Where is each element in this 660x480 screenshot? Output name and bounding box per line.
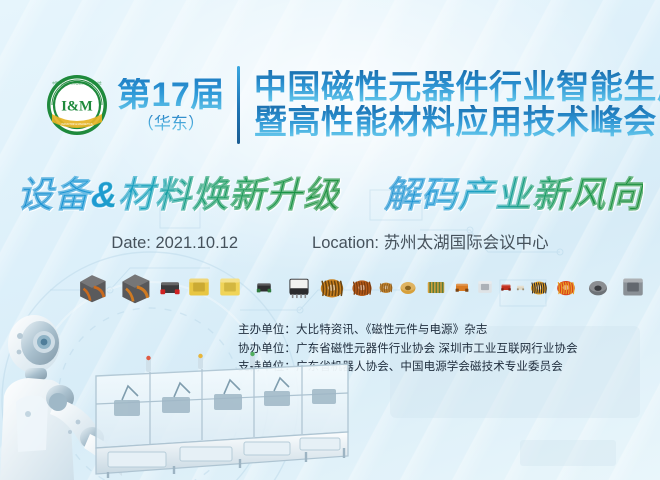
poster-header: I&M 中国电子元件行业协会磁性材料与器件分会 INDUCTOR & MAGNE… <box>0 62 660 148</box>
title-line-1: 中国磁性元器件行业智能生产 <box>254 70 660 105</box>
product-ferrite-core-ee <box>186 274 212 300</box>
svg-text:I&M: I&M <box>61 99 93 115</box>
svg-text:中国电子元件行业协会磁性材料与器件分会: 中国电子元件行业协会磁性材料与器件分会 <box>52 81 102 85</box>
location-label: Location: <box>312 234 379 252</box>
event-date: Date: 2021.10.12 <box>111 234 238 253</box>
edition-number: 第17届 <box>117 78 225 112</box>
date-value: 2021.10.12 <box>155 234 238 252</box>
product-ferrite-core-square <box>216 274 244 300</box>
product-small-chip-red <box>500 280 512 294</box>
slogan-part-1: 设备&材料焕新升级 <box>17 174 340 215</box>
edition-block: 第17届 （华东） <box>117 78 225 132</box>
product-ferrite-block-amber <box>398 276 418 298</box>
location-value: 苏州太湖国际会议中心 <box>384 234 549 252</box>
product-toroid-core-small <box>350 275 374 299</box>
product-planar-core-grey <box>617 274 649 300</box>
page-title: 中国磁性元器件行业智能生产 暨高性能材料应用技术峰会 <box>254 70 660 140</box>
product-transformer-bobbin <box>284 274 314 300</box>
automated-production-line-illustration <box>62 348 362 478</box>
product-planar-transformer <box>474 278 496 296</box>
date-label: Date: <box>111 234 150 252</box>
organizer-line: 主办单位：大比特资讯、《磁性元件与电源》杂志 <box>238 321 638 340</box>
product-toroid-core-wound <box>318 273 346 301</box>
slogan-part-2: 解码产业新风向 <box>384 174 643 215</box>
conference-poster: I&M 中国电子元件行业协会磁性材料与器件分会 INDUCTOR & MAGNE… <box>0 0 660 480</box>
product-common-mode-choke-large <box>72 270 112 304</box>
title-line-2: 暨高性能材料应用技术峰会 <box>254 105 660 140</box>
slogan: 设备&材料焕新升级 解码产业新风向 <box>0 166 660 218</box>
edition-region: （华东） <box>117 115 225 132</box>
product-ring-core-mini <box>378 279 394 295</box>
product-tiny-bead <box>516 283 525 292</box>
product-image-strip <box>72 262 642 312</box>
product-smd-inductor-black <box>158 275 182 299</box>
event-location: Location: 苏州太湖国际会议中心 <box>312 229 549 253</box>
product-common-mode-choke-2 <box>116 269 154 305</box>
event-meta: Date: 2021.10.12 Location: 苏州太湖国际会议中心 <box>0 229 660 253</box>
header-divider <box>237 66 240 144</box>
product-smd-chip-orange <box>454 279 470 295</box>
product-toroid-yellow-wound <box>529 276 549 298</box>
product-shielded-inductor-grey <box>583 275 613 299</box>
im-seal-logo: I&M 中国电子元件行业协会磁性材料与器件分会 INDUCTOR & MAGNE… <box>46 74 108 136</box>
product-multilayer-inductor <box>422 276 450 298</box>
svg-text:INDUCTOR & MAGNETICS: INDUCTOR & MAGNETICS <box>61 123 92 126</box>
product-smd-power-inductor <box>248 278 280 296</box>
product-dual-toroid-red <box>553 276 579 298</box>
